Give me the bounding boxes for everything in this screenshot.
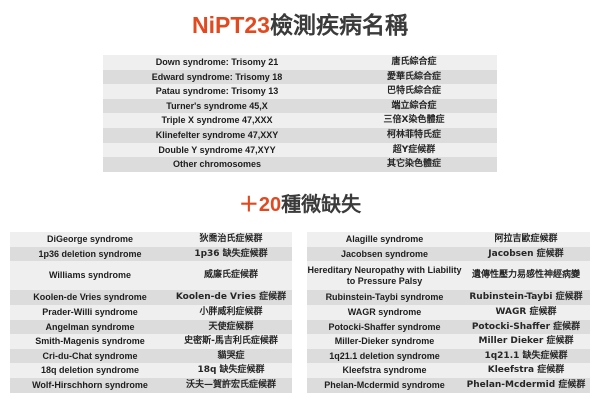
disease-name-cn: 唐氏綜合症 xyxy=(331,55,497,70)
disease-name-cn: 1p36 缺失症候群 xyxy=(170,247,292,262)
chromosome-table-body: Down syndrome: Trisomy 21唐氏綜合症Edward syn… xyxy=(103,55,497,172)
table-row: WAGR syndromeWAGR 症候群 xyxy=(307,305,590,320)
microdeletion-right-container: Alagille syndrome阿拉吉歐症候群Jacobsen syndrom… xyxy=(307,232,590,393)
disease-name-cn: 天使症候群 xyxy=(170,320,292,335)
disease-name-en: 1p36 deletion syndrome xyxy=(10,247,170,262)
page-header: NiPT23檢測疾病名稱 xyxy=(0,0,600,40)
disease-name-cn: Koolen-de Vries 症候群 xyxy=(170,290,292,305)
disease-name-en: Turner's syndrome 45,X xyxy=(103,99,331,114)
disease-name-cn: 其它染色體症 xyxy=(331,157,497,172)
microdeletion-left-container: DiGeorge syndrome狄喬治氏症候群1p36 deletion sy… xyxy=(10,232,292,393)
disease-name-cn: 小胖威利症候群 xyxy=(170,305,292,320)
table-row: Down syndrome: Trisomy 21唐氏綜合症 xyxy=(103,55,497,70)
table-row: 1p36 deletion syndrome1p36 缺失症候群 xyxy=(10,247,292,262)
table-row: Smith-Magenis syndrome史密斯-馬吉利氏症候群 xyxy=(10,334,292,349)
disease-name-cn: 威廉氏症候群 xyxy=(170,261,292,290)
disease-name-en: Triple X syndrome 47,XXX xyxy=(103,113,331,128)
table-row: Double Y syndrome 47,XYY超Y症候群 xyxy=(103,143,497,158)
disease-name-en: Jacobsen syndrome xyxy=(307,247,462,262)
table-row: Koolen-de Vries syndromeKoolen-de Vries … xyxy=(10,290,292,305)
microdeletion-right-table-body: Alagille syndrome阿拉吉歐症候群Jacobsen syndrom… xyxy=(307,232,590,393)
disease-name-cn: 沃夫—賀許宏氏症候群 xyxy=(170,378,292,393)
disease-name-en: Alagille syndrome xyxy=(307,232,462,247)
table-row: Jacobsen syndromeJacobsen 症候群 xyxy=(307,247,590,262)
disease-name-cn: 史密斯-馬吉利氏症候群 xyxy=(170,334,292,349)
disease-name-cn: 端立綜合症 xyxy=(331,99,497,114)
disease-name-cn: Phelan-Mcdermid 症候群 xyxy=(462,378,590,393)
disease-name-cn: Miller Dieker 症候群 xyxy=(462,334,590,349)
table-row: Miller-Dieker syndromeMiller Dieker 症候群 xyxy=(307,334,590,349)
disease-name-en: Angelman syndrome xyxy=(10,320,170,335)
disease-name-cn: 遺傳性壓力易感性神經病變 xyxy=(462,261,590,290)
microdeletion-right-table: Alagille syndrome阿拉吉歐症候群Jacobsen syndrom… xyxy=(307,232,590,393)
disease-name-en: DiGeorge syndrome xyxy=(10,232,170,247)
disease-name-cn: 柯林菲特氏症 xyxy=(331,128,497,143)
microdeletion-left-table-body: DiGeorge syndrome狄喬治氏症候群1p36 deletion sy… xyxy=(10,232,292,393)
table-row: Williams syndrome威廉氏症候群 xyxy=(10,261,292,290)
disease-name-en: Cri-du-Chat syndrome xyxy=(10,349,170,364)
disease-name-en: Phelan-Mcdermid syndrome xyxy=(307,378,462,393)
table-row: Phelan-Mcdermid syndromePhelan-Mcdermid … xyxy=(307,378,590,393)
table-row: 18q deletion syndrome18q 缺失症候群 xyxy=(10,363,292,378)
chromosome-table-container: Down syndrome: Trisomy 21唐氏綜合症Edward syn… xyxy=(103,55,497,172)
microdeletion-tables-container: DiGeorge syndrome狄喬治氏症候群1p36 deletion sy… xyxy=(0,232,600,398)
disease-name-en: Smith-Magenis syndrome xyxy=(10,334,170,349)
disease-name-en: Other chromosomes xyxy=(103,157,331,172)
disease-name-en: Wolf-Hirschhorn syndrome xyxy=(10,378,170,393)
disease-name-en: 18q deletion syndrome xyxy=(10,363,170,378)
table-row: Angelman syndrome天使症候群 xyxy=(10,320,292,335)
section-title-rest: 種微缺失 xyxy=(281,194,361,216)
page-title-rest: 檢測疾病名稱 xyxy=(270,12,408,38)
disease-name-en: Hereditary Neuropathy with Liability to … xyxy=(307,261,462,290)
section-title: ＋20種微缺失 xyxy=(0,186,600,218)
table-row: Triple X syndrome 47,XXX三倍X染色體症 xyxy=(103,113,497,128)
disease-name-en: Potocki-Shaffer syndrome xyxy=(307,320,462,335)
disease-name-en: Double Y syndrome 47,XYY xyxy=(103,143,331,158)
disease-name-cn: 狄喬治氏症候群 xyxy=(170,232,292,247)
table-row: Wolf-Hirschhorn syndrome沃夫—賀許宏氏症候群 xyxy=(10,378,292,393)
table-row: Patau syndrome: Trisomy 13巴特氏綜合症 xyxy=(103,84,497,99)
table-row: Cri-du-Chat syndrome貓哭症 xyxy=(10,349,292,364)
microdeletion-left-table: DiGeorge syndrome狄喬治氏症候群1p36 deletion sy… xyxy=(10,232,292,393)
disease-name-cn: 三倍X染色體症 xyxy=(331,113,497,128)
disease-name-cn: Rubinstein-Taybi 症候群 xyxy=(462,290,590,305)
disease-name-en: Edward syndrome: Trisomy 18 xyxy=(103,70,331,85)
table-row: DiGeorge syndrome狄喬治氏症候群 xyxy=(10,232,292,247)
table-row: Prader-Willi syndrome小胖威利症候群 xyxy=(10,305,292,320)
disease-name-cn: WAGR 症候群 xyxy=(462,305,590,320)
page-title-accent: NiPT23 xyxy=(192,12,270,38)
disease-name-cn: 1q21.1 缺失症候群 xyxy=(462,349,590,364)
table-row: Other chromosomes其它染色體症 xyxy=(103,157,497,172)
disease-name-cn: 阿拉吉歐症候群 xyxy=(462,232,590,247)
disease-name-en: Kleefstra syndrome xyxy=(307,363,462,378)
table-row: Kleefstra syndromeKleefstra 症候群 xyxy=(307,363,590,378)
table-row: Hereditary Neuropathy with Liability to … xyxy=(307,261,590,290)
disease-name-en: Patau syndrome: Trisomy 13 xyxy=(103,84,331,99)
disease-name-en: Prader-Willi syndrome xyxy=(10,305,170,320)
disease-name-en: Down syndrome: Trisomy 21 xyxy=(103,55,331,70)
disease-name-en: Koolen-de Vries syndrome xyxy=(10,290,170,305)
table-row: 1q21.1 deletion syndrome1q21.1 缺失症候群 xyxy=(307,349,590,364)
disease-name-cn: Jacobsen 症候群 xyxy=(462,247,590,262)
disease-name-cn: 超Y症候群 xyxy=(331,143,497,158)
disease-name-cn: 愛華氏綜合症 xyxy=(331,70,497,85)
table-row: Edward syndrome: Trisomy 18愛華氏綜合症 xyxy=(103,70,497,85)
table-row: Klinefelter syndrome 47,XXY柯林菲特氏症 xyxy=(103,128,497,143)
table-row: Turner's syndrome 45,X端立綜合症 xyxy=(103,99,497,114)
disease-name-en: Rubinstein-Taybi syndrome xyxy=(307,290,462,305)
table-row: Rubinstein-Taybi syndromeRubinstein-Tayb… xyxy=(307,290,590,305)
chromosome-table: Down syndrome: Trisomy 21唐氏綜合症Edward syn… xyxy=(103,55,497,172)
section-title-accent: ＋20 xyxy=(239,194,281,216)
table-row: Alagille syndrome阿拉吉歐症候群 xyxy=(307,232,590,247)
disease-name-cn: 巴特氏綜合症 xyxy=(331,84,497,99)
disease-name-en: WAGR syndrome xyxy=(307,305,462,320)
disease-name-en: 1q21.1 deletion syndrome xyxy=(307,349,462,364)
table-row: Potocki-Shaffer syndromePotocki-Shaffer … xyxy=(307,320,590,335)
disease-name-cn: 18q 缺失症候群 xyxy=(170,363,292,378)
disease-name-cn: 貓哭症 xyxy=(170,349,292,364)
section-header: ＋20種微缺失 xyxy=(0,186,600,218)
disease-name-cn: Potocki-Shaffer 症候群 xyxy=(462,320,590,335)
disease-name-en: Miller-Dieker syndrome xyxy=(307,334,462,349)
disease-name-en: Klinefelter syndrome 47,XXY xyxy=(103,128,331,143)
disease-name-cn: Kleefstra 症候群 xyxy=(462,363,590,378)
page-title: NiPT23檢測疾病名稱 xyxy=(0,0,600,40)
disease-name-en: Williams syndrome xyxy=(10,261,170,290)
